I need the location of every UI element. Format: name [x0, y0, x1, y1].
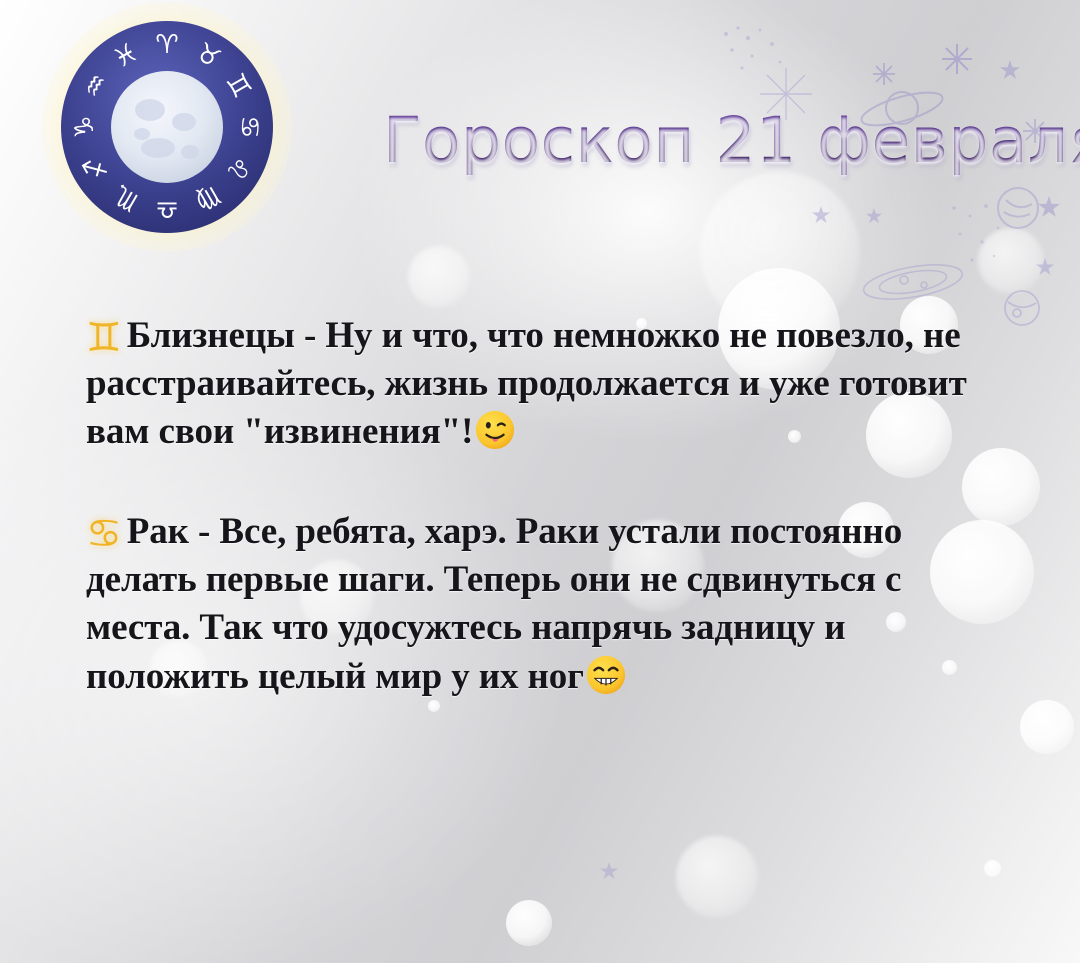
horoscope-entries-list: ♊Близнецы - Ну и что, что немножко не по…	[86, 312, 1006, 701]
planet-ring-doodle-icon	[858, 258, 968, 306]
horoscope-poster: ♈ ♉ ♊ ♋ ♌ ♍ ♎ ♏ ♐ ♑ ♒ ♓ Гороскоп 21 февр…	[0, 0, 1080, 963]
star-doodle-icon	[600, 862, 618, 880]
zodiac-wheel-logo: ♈ ♉ ♊ ♋ ♌ ♍ ♎ ♏ ♐ ♑ ♒ ♓	[58, 18, 276, 236]
zodiac-wheel-icon: ♈ ♉ ♊ ♋ ♌ ♍ ♎ ♏ ♐ ♑ ♒ ♓	[58, 18, 276, 236]
svg-text:♑: ♑	[70, 115, 100, 138]
poster-header: ♈ ♉ ♊ ♋ ♌ ♍ ♎ ♏ ♐ ♑ ♒ ♓ Гороскоп 21 февр…	[0, 0, 1080, 260]
planet-doodle-icon	[1000, 286, 1044, 330]
svg-text:♈: ♈	[155, 30, 178, 60]
svg-text:♎: ♎	[155, 194, 178, 224]
bokeh-circle	[428, 700, 440, 712]
bokeh-circle	[676, 836, 758, 918]
horoscope-entry-gemini: ♊Близнецы - Ну и что, что немножко не по…	[86, 312, 1006, 456]
grinning-face-with-smiling-eyes-emoji	[585, 654, 627, 696]
gemini-icon: ♊	[86, 318, 122, 358]
bokeh-circle	[506, 900, 552, 946]
entry-body: ♊Близнецы - Ну и что, что немножко не по…	[86, 312, 1006, 456]
winking-face-with-tongue-emoji	[474, 409, 516, 451]
star-doodle-icon	[1036, 258, 1054, 276]
entry-text: Рак - Все, ребята, харэ. Раки устали пос…	[86, 511, 902, 696]
svg-text:♋: ♋	[234, 115, 264, 138]
bokeh-circle	[1020, 700, 1074, 754]
bokeh-circle	[984, 860, 1001, 877]
page-title: Гороскоп 21 февраля	[383, 104, 1080, 177]
cancer-icon: ♋	[86, 514, 122, 554]
horoscope-entry-cancer: ♋Рак - Все, ребята, харэ. Раки устали по…	[86, 508, 1006, 700]
entry-text: Близнецы - Ну и что, что немножко не пов…	[86, 315, 967, 452]
entry-body: ♋Рак - Все, ребята, харэ. Раки устали по…	[86, 508, 1006, 700]
